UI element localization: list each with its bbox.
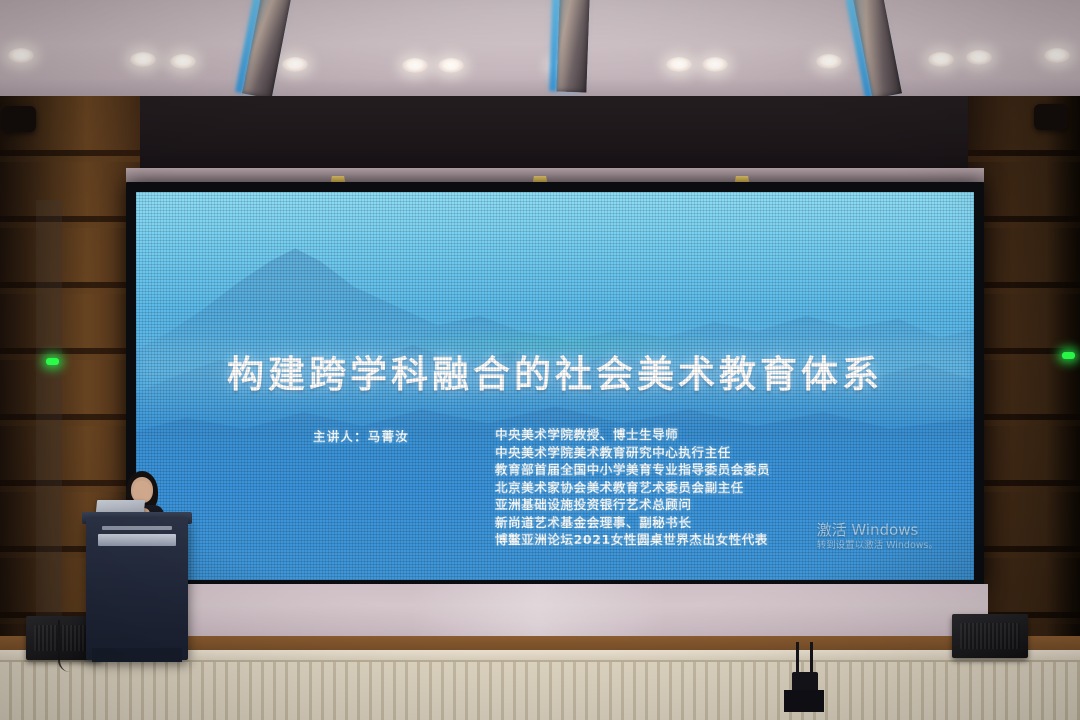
- ceiling-mounted-spotlight-right: [1034, 104, 1068, 130]
- ceiling-downlight: [170, 54, 196, 69]
- ceiling-downlight: [402, 58, 428, 73]
- ceiling-light-wash: [0, 0, 1080, 98]
- podium: [86, 518, 188, 660]
- ceiling-downlight: [816, 54, 842, 69]
- led-screen[interactable]: 构建跨学科融合的社会美术教育体系 主讲人：马菁汝 中央美术学院教授、博士生导师 …: [136, 192, 974, 580]
- ceiling-downlight: [702, 57, 728, 72]
- windows-activation-watermark: 激活 Windows 转到设置以激活 Windows。: [817, 521, 938, 552]
- wall-shadow-right: [968, 96, 1080, 636]
- ceiling-downlight: [928, 52, 954, 67]
- podium-nameplate: [98, 534, 176, 546]
- stage-front-panel: [0, 662, 1080, 720]
- slide-title: 构建跨学科融合的社会美术教育体系: [136, 344, 974, 398]
- green-indicator-light-right: [1062, 352, 1075, 359]
- auditorium-photo: 构建跨学科融合的社会美术教育体系 主讲人：马菁汝 中央美术学院教授、博士生导师 …: [0, 0, 1080, 720]
- ceiling-downlight: [666, 57, 692, 72]
- podium-nameplate-secondary: [102, 526, 172, 530]
- ceiling-downlight: [1044, 48, 1070, 63]
- stage-monitor-speaker-right: [952, 614, 1028, 658]
- podium-base: [92, 648, 182, 662]
- presenter-name-label: 主讲人：马菁汝: [235, 426, 495, 445]
- ceiling-downlight: [130, 52, 156, 67]
- ceiling-downlight: [438, 58, 464, 73]
- credential-line: 中央美术学院美术教育研究中心执行主任: [495, 444, 875, 462]
- floor-cable: [58, 620, 82, 672]
- speaker-face: [133, 481, 151, 502]
- credential-line: 教育部首届全国中小学美育专业指导委员会委员: [495, 461, 875, 479]
- ceiling-vent: [556, 0, 590, 92]
- wireless-receiver-body: [784, 690, 824, 712]
- watermark-title: 激活 Windows: [817, 521, 938, 539]
- ceiling-downlight: [966, 50, 992, 65]
- watermark-subtitle: 转到设置以激活 Windows。: [817, 539, 938, 552]
- green-indicator-light-left: [46, 358, 59, 365]
- credential-line: 北京美术家协会美术教育艺术委员会副主任: [495, 479, 875, 497]
- credential-line: 中央美术学院教授、博士生导师: [495, 426, 875, 444]
- ceiling-mounted-spotlight-left: [2, 106, 36, 132]
- credential-line: 亚洲基础设施投资银行艺术总顾问: [495, 496, 875, 514]
- ceiling-downlight: [8, 48, 34, 63]
- ceiling-downlight: [282, 57, 308, 72]
